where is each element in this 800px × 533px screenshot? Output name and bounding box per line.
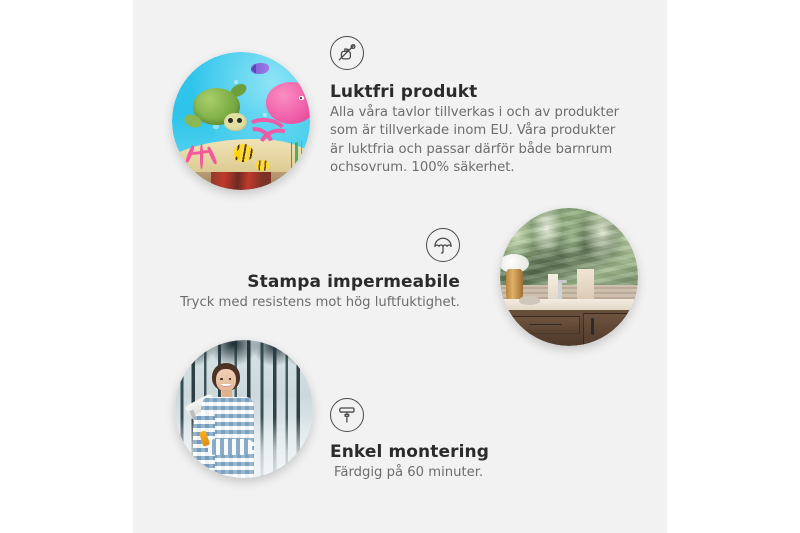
bubble [263,113,267,117]
image-underwater-kids-scene [172,52,310,190]
feature-title: Stampa impermeabile [160,272,460,292]
feature-easy-mounting: Enkel montering Färdgig på 60 minuter. [330,398,630,482]
feature-body: Tryck med resistens mot hög luftfuktighe… [160,294,460,312]
crossed-arm [208,439,252,454]
feature-waterproof: Stampa impermeabile Tryck med resistens … [160,228,460,312]
no-spray-bottle-icon [330,36,364,70]
bathroom-photo [500,208,638,346]
octopus [266,82,310,123]
forest-canopy [175,340,313,387]
purple-fish [251,63,269,74]
wooden-vanity [508,310,638,346]
feature-odour-free: Luktfri produkt Alla våra tavlor tillver… [330,36,630,178]
umbrella-icon [426,228,460,262]
product-feature-banner: Luktfri produkt Alla våra tavlor tillver… [0,0,800,533]
paint-roller-icon [330,398,364,432]
feature-title: Luktfri produkt [330,82,630,102]
coral [183,133,224,169]
smile [221,384,231,387]
painter-photo [175,340,313,478]
turtle-head [224,113,246,131]
image-bathroom-botanical-wallpaper [500,208,638,346]
vanity-door [583,313,634,346]
candle [548,274,558,302]
small-yellow-fish [255,160,270,171]
eye [220,378,223,380]
sunken-ship [211,172,272,190]
eye [229,378,232,380]
image-woman-with-paint-roller [175,340,313,478]
bubble [234,80,238,84]
vanity-drawer [511,316,580,334]
feature-body: Alla våra tavlor tillverkas i och av pro… [330,104,630,178]
feature-body: Färdgig på 60 minuter. [330,464,630,482]
soap-dish [519,296,540,304]
faucet [558,280,562,301]
feature-title: Enkel montering [330,442,630,462]
aquarium-artwork [172,52,310,190]
octopus-eye [299,96,303,100]
